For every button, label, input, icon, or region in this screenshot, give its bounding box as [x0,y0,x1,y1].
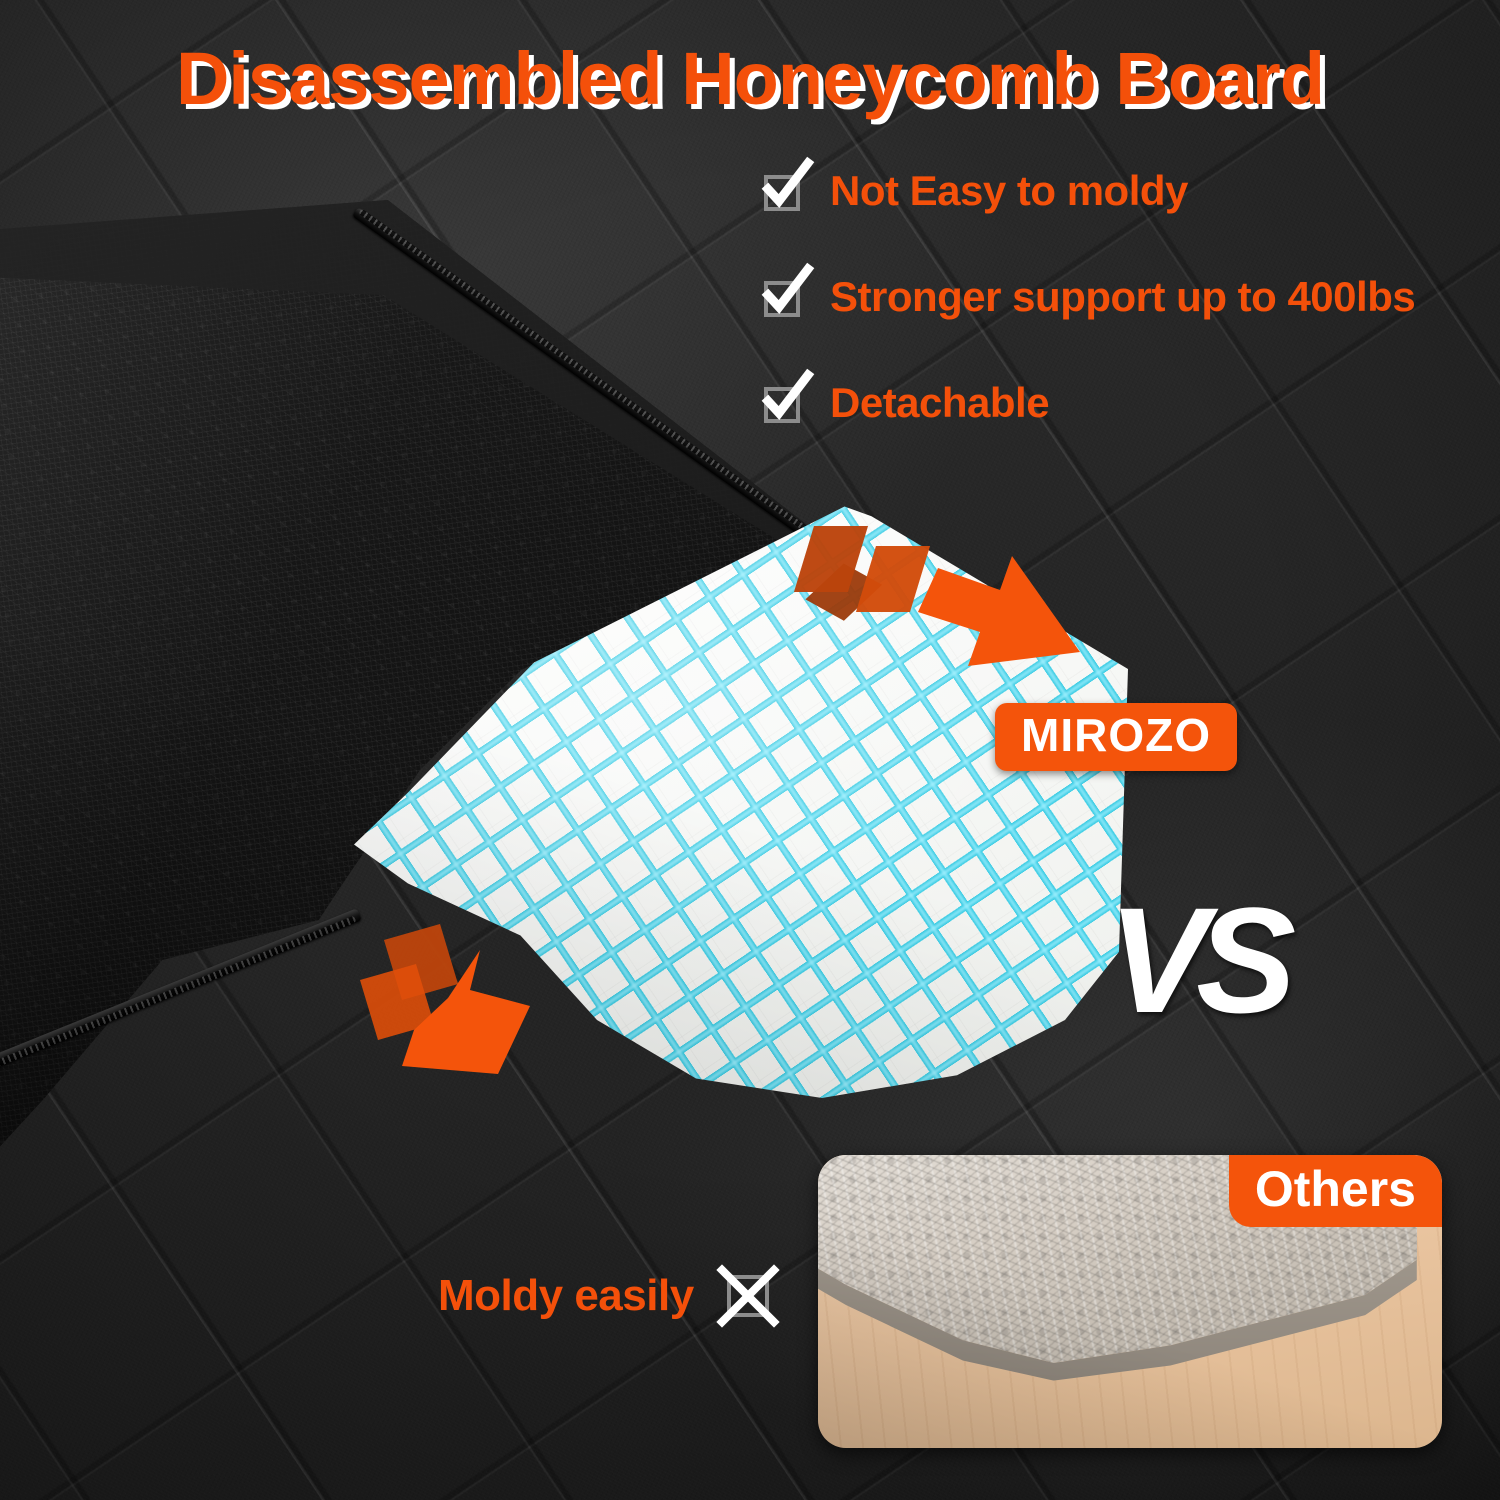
versus-label: VS [1108,885,1288,1035]
feature-list: Not Easy to moldy Stronger support up to… [762,158,1482,476]
product-infographic: MIROZO VS Disassembled Honeycomb Board N… [0,0,1500,1500]
x-mark-icon [720,1268,776,1324]
page-title: Disassembled Honeycomb Board [0,36,1500,121]
mirozo-badge: MIROZO [995,703,1237,771]
competitor-caption-label: Moldy easily [438,1271,694,1321]
checkbox-checked-icon [762,381,806,425]
feature-label: Detachable [830,379,1049,427]
feature-item-detachable: Detachable [762,370,1482,436]
arrow-pointing-down-right [790,520,1130,700]
checkbox-checked-icon [762,169,806,213]
checkbox-checked-icon [762,275,806,319]
others-badge: Others [1229,1155,1442,1227]
feature-item-stronger-support: Stronger support up to 400lbs [762,264,1482,330]
competitor-caption: Moldy easily [438,1268,776,1324]
arrow-pointing-down-left [348,878,688,1098]
competitor-photo: Others [818,1155,1442,1448]
feature-item-not-easy-to-moldy: Not Easy to moldy [762,158,1482,224]
feature-label: Not Easy to moldy [830,167,1188,215]
feature-label: Stronger support up to 400lbs [830,273,1415,321]
